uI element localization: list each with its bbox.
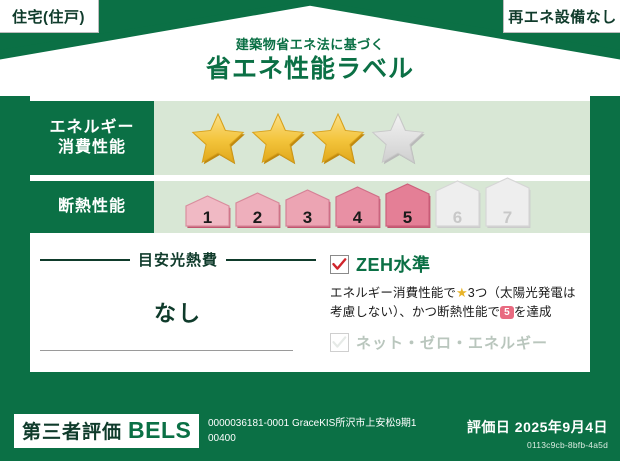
insulation-grade-number: 3 [284,209,331,226]
zeh-desc-part1: エネルギー消費性能で [330,286,456,300]
insulation-performance-value-cell: 1234567 [154,181,590,233]
cost-rule-left [40,259,130,261]
energy-performance-label-cell: エネルギー 消費性能 [30,101,154,175]
insulation-grade-7: 7 [484,177,531,229]
utility-cost-heading: 目安光熱費 [40,249,316,270]
evaluation-id-line1: 0000036181-0001 GraceKIS所沢市上安松9期1 [208,417,458,432]
insulation-grade-3: 3 [284,189,331,229]
page-title-main: 省エネ性能ラベル [0,55,620,84]
energy-performance-row: エネルギー 消費性能 [30,101,590,175]
insulation-grade-number: 6 [434,209,481,226]
net-zero-energy-row: ネット・ゼロ・エネルギー [330,332,582,353]
zeh-grade-chip: 5 [500,306,514,319]
evaluation-date-block: 評価日 2025年9月4日 0113c9cb-8bfb-4a5d [467,417,608,450]
insulation-grade-number: 1 [184,209,231,226]
renewable-equipment-tag-label: 再エネ設備なし [508,6,617,27]
bels-badge: 第三者評価 BELS [14,414,199,448]
zeh-title: ZEH水準 [356,251,431,277]
insulation-grade-6: 6 [434,180,481,229]
label-card: エネルギー 消費性能 断熱性能 1234567 目安光熱費 [30,95,590,372]
insulation-grade-number: 4 [334,209,381,226]
label-footer: 第三者評価 BELS 0000036181-0001 GraceKIS所沢市上安… [0,405,620,461]
star-filled-icon [190,111,246,165]
building-type-tag-label: 住宅(住戸) [12,6,85,27]
cost-rule-right [226,259,316,261]
insulation-grade-5: 5 [384,183,431,229]
utility-cost-section: 目安光熱費 なし [30,241,326,372]
document-hash: 0113c9cb-8bfb-4a5d [467,440,608,450]
evaluation-id: 0000036181-0001 GraceKIS所沢市上安松9期1 00400 [208,417,458,446]
energy-label-line2: 消費性能 [58,138,126,158]
page-title: 建築物省エネ法に基づく 省エネ性能ラベル [0,38,620,84]
bels-en-label: BELS [128,417,191,444]
zeh-desc-part3: を達成 [514,305,552,319]
utility-cost-divider [40,350,293,351]
evaluation-date: 評価日 2025年9月4日 [467,417,608,437]
zeh-checkbox[interactable] [330,255,349,274]
evaluation-date-value: 2025年9月4日 [515,419,608,435]
building-type-tag: 住宅(住戸) [0,0,99,33]
renewable-equipment-tag: 再エネ設備なし [503,0,620,33]
energy-label-line1: エネルギー [49,118,134,138]
utility-cost-heading-label: 目安光熱費 [138,249,218,270]
energy-performance-value-cell [154,101,590,175]
utility-cost-value: なし [40,296,316,328]
insulation-grade-1: 1 [184,195,231,229]
insulation-grade-scale: 1234567 [184,177,531,233]
insulation-grade-2: 2 [234,192,281,229]
insulation-performance-label-cell: 断熱性能 [30,181,154,233]
star-rating [190,111,426,165]
check-icon-faded [332,336,347,349]
net-zero-energy-checkbox[interactable] [330,333,349,352]
zeh-description: エネルギー消費性能で★3つ（太陽光発電は考慮しない）、かつ断熱性能で5を達成 [330,283,582,323]
evaluation-id-line2: 00400 [208,432,458,447]
card-lower-section: 目安光熱費 なし ZEH水準 エネルギー消費性能で★3つ（太陽光発電は考慮し [30,241,590,372]
insulation-performance-row: 断熱性能 1234567 [30,181,590,233]
check-icon [332,258,347,271]
zeh-heading: ZEH水準 [330,251,582,277]
insulation-grade-4: 4 [334,186,381,229]
zeh-section: ZEH水準 エネルギー消費性能で★3つ（太陽光発電は考慮しない）、かつ断熱性能で… [326,241,590,372]
energy-performance-label: 住宅(住戸) 再エネ設備なし 建築物省エネ法に基づく 省エネ性能ラベル エネルギ… [0,0,620,461]
star-filled-icon [310,111,366,165]
evaluation-date-label: 評価日 [467,419,511,435]
page-subtitle: 建築物省エネ法に基づく [0,38,620,51]
insulation-grade-number: 5 [384,209,431,226]
star-empty-icon [370,111,426,165]
inline-star-icon: ★ [456,285,468,300]
bels-jp-label: 第三者評価 [22,417,122,444]
insulation-grade-number: 7 [484,209,531,226]
star-filled-icon [250,111,306,165]
insulation-grade-number: 2 [234,209,281,226]
insulation-label-line1: 断熱性能 [58,197,126,217]
net-zero-energy-label: ネット・ゼロ・エネルギー [356,332,548,353]
